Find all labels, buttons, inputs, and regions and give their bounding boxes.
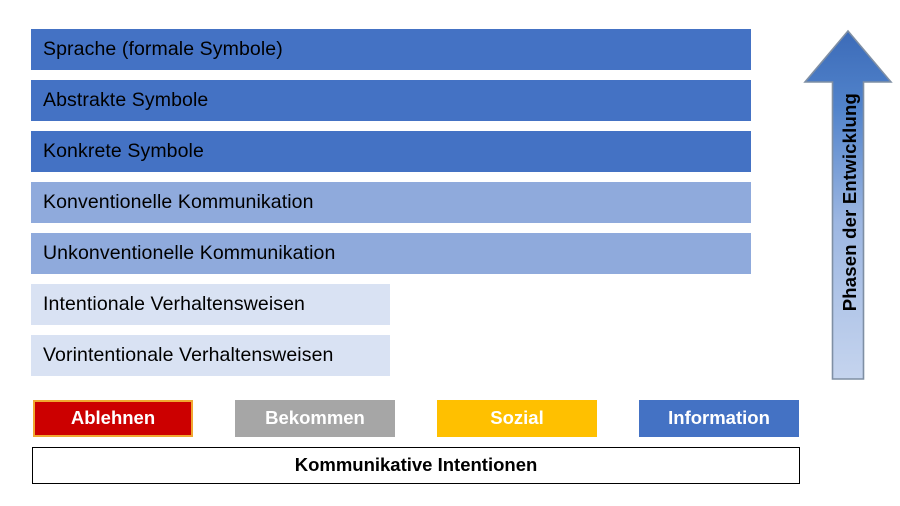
level-bar-intentionale-verhaltensweisen[interactable]: Intentionale Verhaltensweisen	[31, 284, 390, 325]
level-bar-unkonventionelle-kommunikation[interactable]: Unkonventionelle Kommunikation	[31, 233, 751, 274]
intention-chip-label: Information	[668, 409, 770, 428]
level-bar-label: Unkonventionelle Kommunikation	[43, 244, 335, 264]
up-arrow-icon	[802, 28, 894, 382]
level-bar-label: Intentionale Verhaltensweisen	[43, 295, 305, 315]
communication-development-diagram: Sprache (formale Symbole) Abstrakte Symb…	[0, 0, 900, 506]
intention-chip-sozial[interactable]: Sozial	[437, 400, 597, 437]
level-bar-vorintentionale-verhaltensweisen[interactable]: Vorintentionale Verhaltensweisen	[31, 335, 390, 376]
level-bar-konventionelle-kommunikation[interactable]: Konventionelle Kommunikation	[31, 182, 751, 223]
development-arrow: Phasen der Entwicklung	[802, 28, 894, 382]
communicative-intentions-band: Kommunikative Intentionen	[32, 447, 800, 484]
level-bar-konkrete-symbole[interactable]: Konkrete Symbole	[31, 131, 751, 172]
level-bar-label: Abstrakte Symbole	[43, 91, 208, 111]
intention-chip-ablehnen[interactable]: Ablehnen	[33, 400, 193, 437]
level-bar-label: Sprache (formale Symbole)	[43, 40, 283, 60]
intention-chip-label: Sozial	[490, 409, 543, 428]
intention-chip-label: Bekommen	[265, 409, 365, 428]
level-bar-label: Konventionelle Kommunikation	[43, 193, 314, 213]
intention-chip-label: Ablehnen	[71, 409, 155, 428]
communicative-intentions-label: Kommunikative Intentionen	[295, 456, 538, 475]
level-bar-label: Konkrete Symbole	[43, 142, 204, 162]
intention-chip-bekommen[interactable]: Bekommen	[235, 400, 395, 437]
level-bar-sprache[interactable]: Sprache (formale Symbole)	[31, 29, 751, 70]
level-bar-label: Vorintentionale Verhaltensweisen	[43, 346, 333, 366]
intention-chip-information[interactable]: Information	[639, 400, 799, 437]
level-bar-abstrakte-symbole[interactable]: Abstrakte Symbole	[31, 80, 751, 121]
